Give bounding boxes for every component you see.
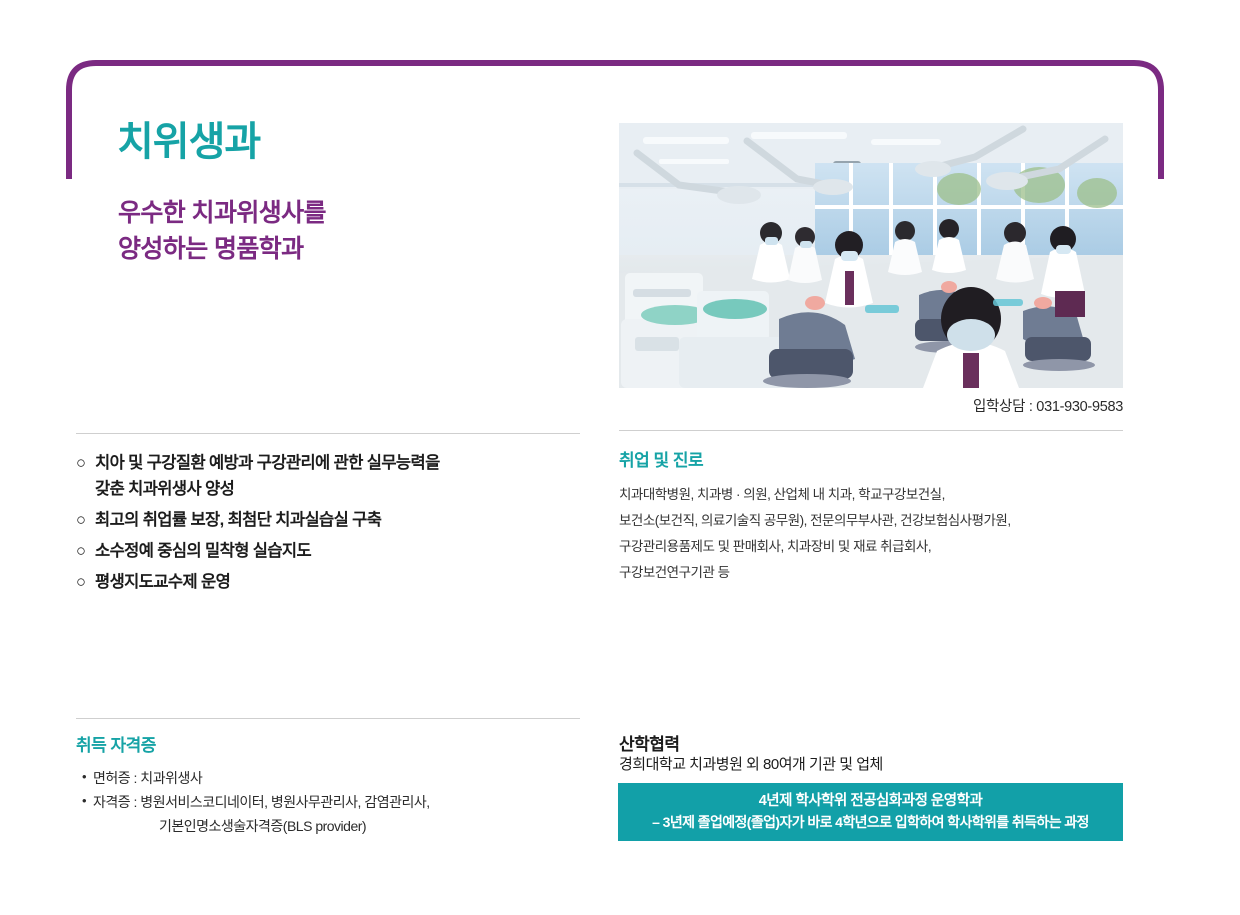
banner-line-2: – 3년제 졸업예정(졸업)자가 바로 4학년으로 입학하여 학사학위를 취득하… <box>652 812 1089 834</box>
feature-text: 최고의 취업률 보장, 최첨단 치과실습실 구축 <box>95 507 596 533</box>
certificate-line-2: 기본인명소생술자격증(BLS provider) <box>93 814 602 838</box>
circle-bullet-icon: ○ <box>76 507 95 533</box>
certificate-text: 면허증 : 치과위생사 <box>93 766 602 790</box>
certificate-line-1: 면허증 : 치과위생사 <box>93 766 602 790</box>
tagline-line-1: 우수한 치과위생사를 <box>118 196 326 232</box>
list-item: ○ 치아 및 구강질환 예방과 구강관리에 관한 실무능력을 갖춘 치과위생사 … <box>76 450 596 502</box>
list-item: ○ 평생지도교수제 운영 <box>76 569 596 595</box>
career-description: 치과대학병원, 치과병 · 의원, 산업체 내 치과, 학교구강보건실, 보건소… <box>619 482 1139 586</box>
feature-text: 평생지도교수제 운영 <box>95 569 596 595</box>
divider-left-middle <box>76 433 580 434</box>
department-features-list: ○ 치아 및 구강질환 예방과 구강관리에 관한 실무능력을 갖춘 치과위생사 … <box>76 450 596 600</box>
career-line-4: 구강보건연구기관 등 <box>619 560 1139 586</box>
feature-text-line-1: 소수정예 중심의 밀착형 실습지도 <box>95 538 596 564</box>
circle-bullet-icon: ○ <box>76 569 95 595</box>
certificate-text: 자격증 : 병원서비스코디네이터, 병원사무관리사, 감염관리사, 기본인명소생… <box>93 790 602 838</box>
dot-bullet-icon: • <box>82 766 93 788</box>
circle-bullet-icon: ○ <box>76 538 95 564</box>
section-heading-career: 취업 및 진로 <box>619 446 703 471</box>
bachelor-program-banner: 4년제 학사학위 전공심화과정 운영학과 – 3년제 졸업예정(졸업)자가 바로… <box>618 783 1123 841</box>
brochure-page: 치위생과 우수한 치과위생사를 양성하는 명품학과 <box>0 0 1240 915</box>
feature-text: 소수정예 중심의 밀착형 실습지도 <box>95 538 596 564</box>
career-line-3: 구강관리용품제도 및 판매회사, 치과장비 및 재료 취급회사, <box>619 534 1139 560</box>
dot-bullet-icon: • <box>82 790 93 812</box>
certificates-list: • 면허증 : 치과위생사 • 자격증 : 병원서비스코디네이터, 병원사무관리… <box>82 766 602 838</box>
page-title: 치위생과 <box>117 119 260 165</box>
feature-text-line-2: 갖춘 치과위생사 양성 <box>95 476 596 502</box>
feature-text: 치아 및 구강질환 예방과 구강관리에 관한 실무능력을 갖춘 치과위생사 양성 <box>95 450 596 502</box>
feature-text-line-1: 치아 및 구강질환 예방과 구강관리에 관한 실무능력을 <box>95 450 596 476</box>
section-heading-certificates: 취득 자격증 <box>76 731 156 756</box>
list-item: • 면허증 : 치과위생사 <box>82 766 602 790</box>
certificate-line-1: 자격증 : 병원서비스코디네이터, 병원사무관리사, 감염관리사, <box>93 790 602 814</box>
feature-text-line-1: 최고의 취업률 보장, 최첨단 치과실습실 구축 <box>95 507 596 533</box>
divider-left-bottom <box>76 718 580 719</box>
section-heading-cooperation: 산학협력 <box>619 730 680 755</box>
divider-right-middle <box>619 430 1123 431</box>
list-item: ○ 소수정예 중심의 밀착형 실습지도 <box>76 538 596 564</box>
list-item: ○ 최고의 취업률 보장, 최첨단 치과실습실 구축 <box>76 507 596 533</box>
circle-bullet-icon: ○ <box>76 450 95 476</box>
tagline-line-2: 양성하는 명품학과 <box>118 232 326 268</box>
banner-line-1: 4년제 학사학위 전공심화과정 운영학과 <box>759 790 983 812</box>
dental-lab-photo <box>619 123 1123 388</box>
feature-text-line-1: 평생지도교수제 운영 <box>95 569 596 595</box>
admission-contact: 입학상담 : 031-930-9583 <box>619 395 1123 416</box>
career-line-2: 보건소(보건직, 의료기술직 공무원), 전문의무부사관, 건강보험심사평가원, <box>619 508 1139 534</box>
cooperation-description: 경희대학교 치과병원 외 80여개 기관 및 업체 <box>619 753 883 774</box>
career-line-1: 치과대학병원, 치과병 · 의원, 산업체 내 치과, 학교구강보건실, <box>619 482 1139 508</box>
list-item: • 자격증 : 병원서비스코디네이터, 병원사무관리사, 감염관리사, 기본인명… <box>82 790 602 838</box>
department-tagline: 우수한 치과위생사를 양성하는 명품학과 <box>118 196 326 267</box>
